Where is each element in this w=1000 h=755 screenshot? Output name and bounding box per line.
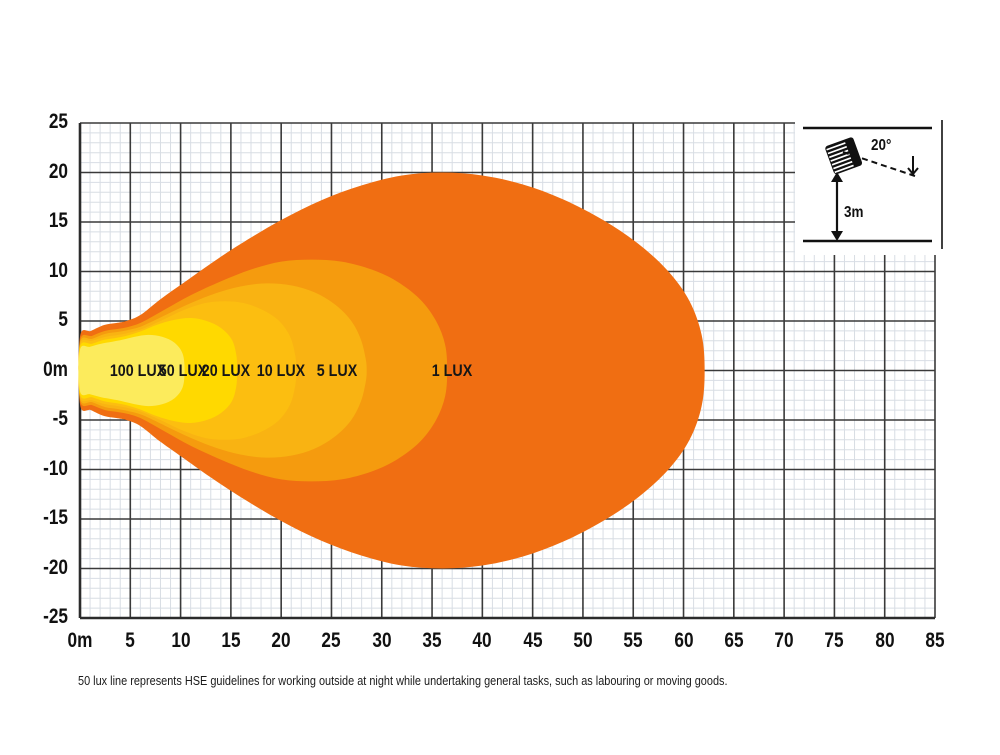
inset-height-label: 3m xyxy=(844,204,863,222)
inset-canvas xyxy=(0,0,1000,750)
inset-angle-label: 20° xyxy=(871,137,891,155)
beam-pattern-page: UTILITY-25 MAXX 1 LUX5 LUX10 LUX20 LUX50… xyxy=(0,0,1000,750)
inset-background xyxy=(795,120,940,255)
footnote-text: 50 lux line represents HSE guidelines fo… xyxy=(78,673,728,688)
